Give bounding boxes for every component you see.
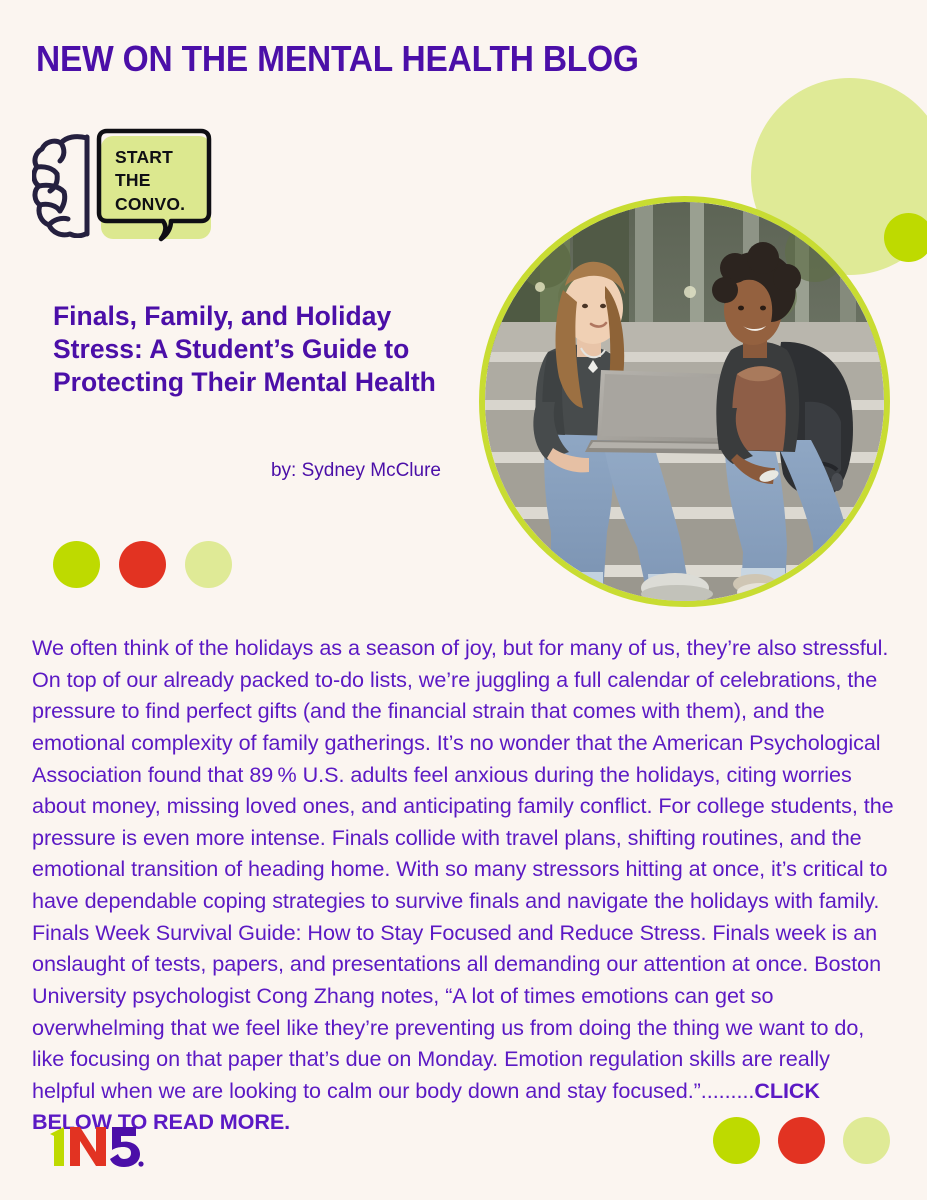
speech-bubble: START THE CONVO. [95, 128, 213, 246]
dot-pale-green [185, 541, 232, 588]
dot-green [713, 1117, 760, 1164]
article-photo [479, 196, 890, 607]
decorative-dot-row-top [53, 541, 232, 588]
dot-green [53, 541, 100, 588]
start-the-convo-logo: START THE CONVO. [32, 128, 212, 246]
dot-red [119, 541, 166, 588]
dot-red [778, 1117, 825, 1164]
brain-icon [32, 134, 94, 238]
dot-pale-green [843, 1117, 890, 1164]
article-title: Finals, Family, and Holiday Stress: A St… [53, 300, 473, 399]
article-body-text: We often think of the holidays as a seas… [32, 635, 894, 1103]
page-title: NEW ON THE MENTAL HEALTH BLOG [36, 38, 639, 80]
1n5-logo [48, 1122, 144, 1168]
decorative-dot-row-bottom [713, 1117, 890, 1164]
decorative-small-circle [884, 213, 927, 262]
bubble-line-3: CONVO. [115, 194, 185, 214]
article-body: We often think of the holidays as a seas… [32, 632, 898, 1138]
bubble-line-2: THE [115, 170, 151, 190]
speech-bubble-text: START THE CONVO. [115, 146, 185, 216]
bubble-line-1: START [115, 147, 173, 167]
article-byline: by: Sydney McClure [53, 460, 441, 482]
